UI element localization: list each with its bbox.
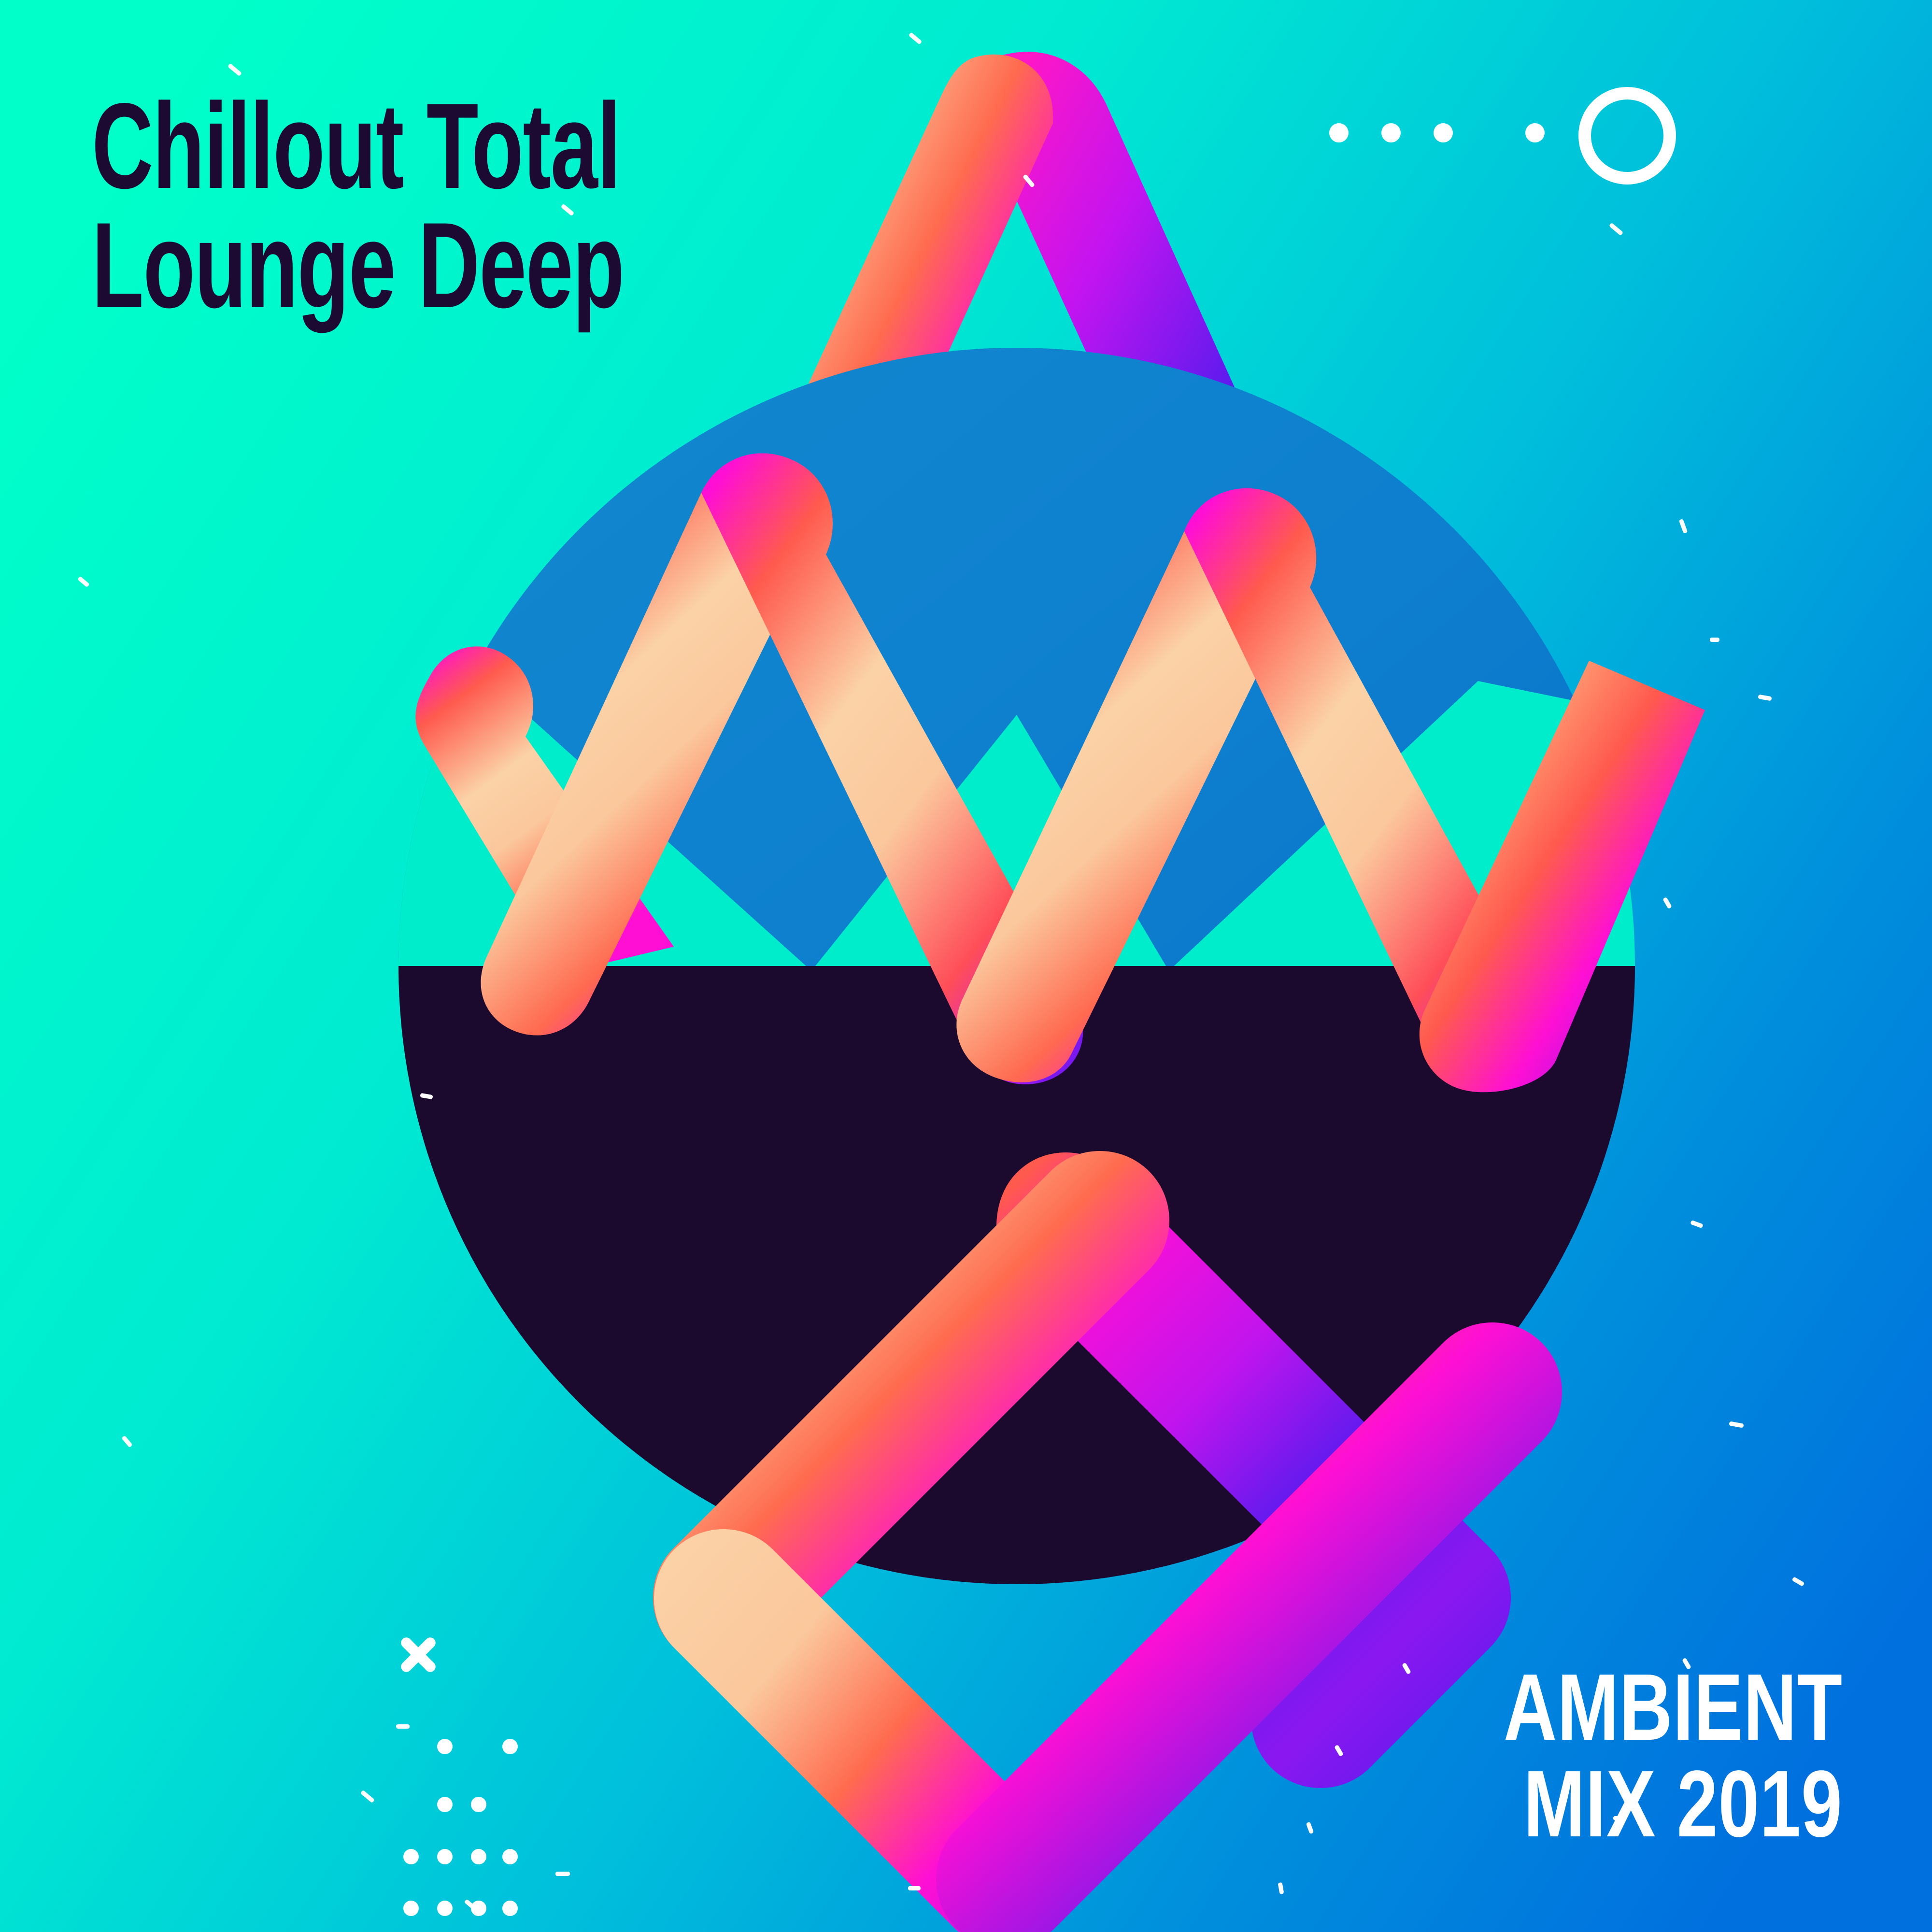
tick-1 — [360, 1790, 375, 1803]
grid-dot-2-2 — [471, 1849, 486, 1864]
grid-dot-2-1 — [437, 1849, 453, 1864]
grid-dot-1-0 — [437, 1797, 453, 1812]
tick-15 — [1791, 1577, 1804, 1587]
grid-dot-3-0 — [403, 1901, 419, 1916]
grid-dot-2-3 — [502, 1849, 518, 1864]
tick-6 — [909, 32, 923, 44]
tick-2 — [555, 1872, 570, 1876]
tick-25 — [420, 1093, 433, 1099]
tick-7 — [1023, 174, 1035, 188]
tick-20 — [1278, 1882, 1284, 1894]
tick-24 — [77, 576, 90, 588]
tick-23 — [121, 1435, 133, 1448]
tick-13 — [1690, 1220, 1704, 1228]
tick-4 — [227, 63, 242, 76]
tick-5 — [561, 203, 575, 216]
decor-layer — [0, 0, 1932, 1932]
subtitle-line-2: MIX 2019 — [1504, 1756, 1843, 1852]
grid-dot-0-0 — [437, 1739, 453, 1754]
tick-9 — [1679, 519, 1688, 534]
tick-19 — [1306, 1822, 1314, 1834]
grid-dot-0-1 — [502, 1739, 518, 1754]
tick-22 — [908, 1886, 921, 1890]
tick-10 — [1710, 638, 1719, 642]
tick-0 — [396, 1724, 410, 1729]
album-cover: Chillout Total Lounge Deep AMBIENT MIX 2… — [0, 0, 1932, 1932]
tick-12 — [1662, 897, 1672, 909]
grid-dot-3-1 — [437, 1901, 453, 1916]
album-subtitle: AMBIENT MIX 2019 — [1408, 1659, 1843, 1852]
subtitle-line-1: AMBIENT — [1504, 1659, 1843, 1756]
tick-11 — [1758, 695, 1772, 701]
decor-dot-1 — [1381, 123, 1401, 142]
ring-outline-shape — [1578, 87, 1676, 185]
decor-dot-2 — [1434, 123, 1453, 142]
grid-dot-3-3 — [502, 1901, 518, 1916]
tick-14 — [1729, 1421, 1744, 1428]
grid-dot-1-1 — [471, 1797, 486, 1812]
tick-8 — [1609, 223, 1623, 236]
tick-18 — [1334, 1745, 1344, 1757]
grid-dot-2-0 — [403, 1849, 419, 1864]
decor-dot-0 — [1329, 123, 1349, 142]
decor-dot-3 — [1525, 123, 1545, 142]
